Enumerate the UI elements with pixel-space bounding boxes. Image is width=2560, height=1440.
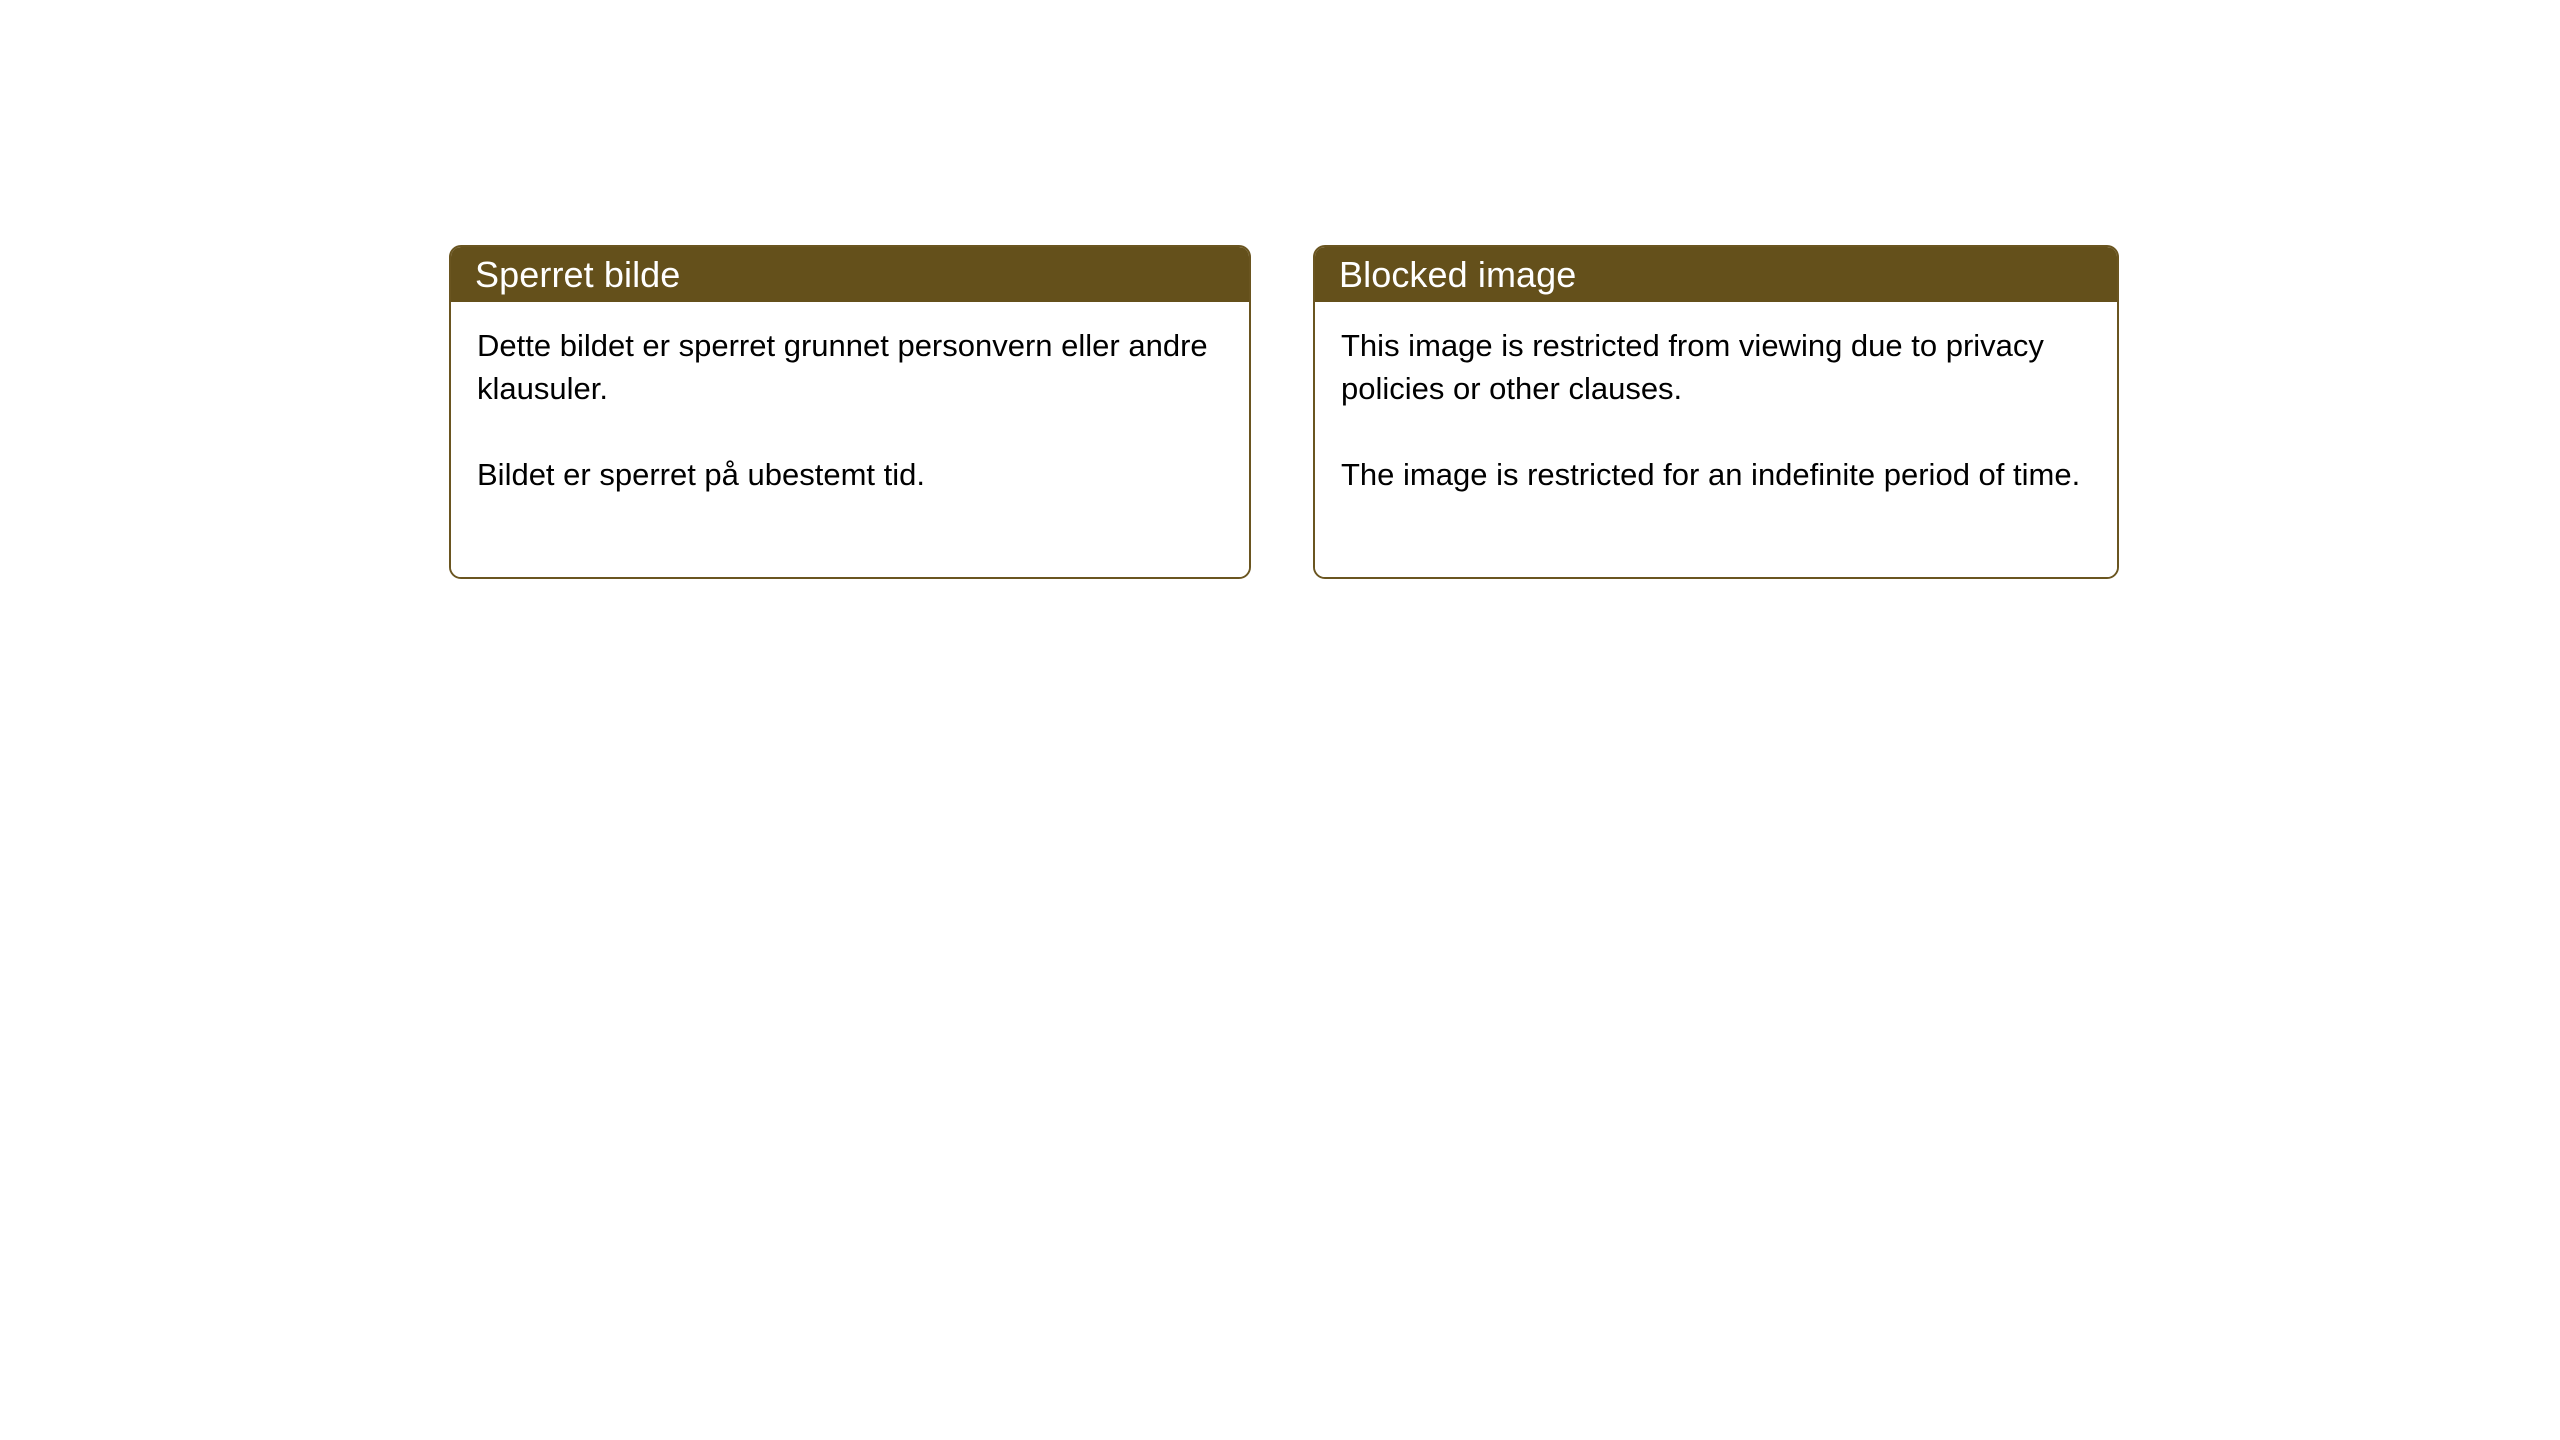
card-paragraph-primary-english: This image is restricted from viewing du… [1341,324,2091,410]
blocked-image-notice-card-norwegian: Sperret bilde Dette bildet er sperret gr… [449,245,1251,579]
card-body-english: This image is restricted from viewing du… [1315,302,2117,577]
card-header-norwegian: Sperret bilde [451,247,1249,302]
page-root: Sperret bilde Dette bildet er sperret gr… [0,0,2560,1440]
card-paragraph-secondary-norwegian: Bildet er sperret på ubestemt tid. [477,453,1217,496]
card-header-english: Blocked image [1315,247,2117,302]
blocked-image-notice-card-english: Blocked image This image is restricted f… [1313,245,2119,579]
card-title-english: Blocked image [1339,255,1576,295]
card-paragraph-primary-norwegian: Dette bildet er sperret grunnet personve… [477,324,1217,410]
card-title-norwegian: Sperret bilde [475,255,680,295]
card-paragraph-secondary-english: The image is restricted for an indefinit… [1341,453,2091,496]
card-body-norwegian: Dette bildet er sperret grunnet personve… [451,302,1249,577]
